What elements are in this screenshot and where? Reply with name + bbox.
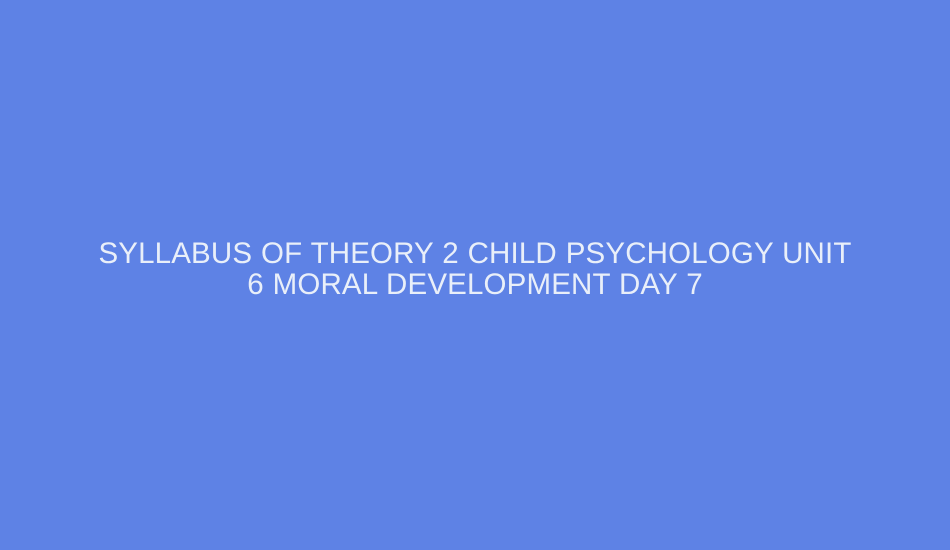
title-card: SYLLABUS OF THEORY 2 CHILD PSYCHOLOGY UN… [0,0,950,550]
page-title: SYLLABUS OF THEORY 2 CHILD PSYCHOLOGY UN… [95,238,855,300]
title-block: SYLLABUS OF THEORY 2 CHILD PSYCHOLOGY UN… [95,238,855,300]
